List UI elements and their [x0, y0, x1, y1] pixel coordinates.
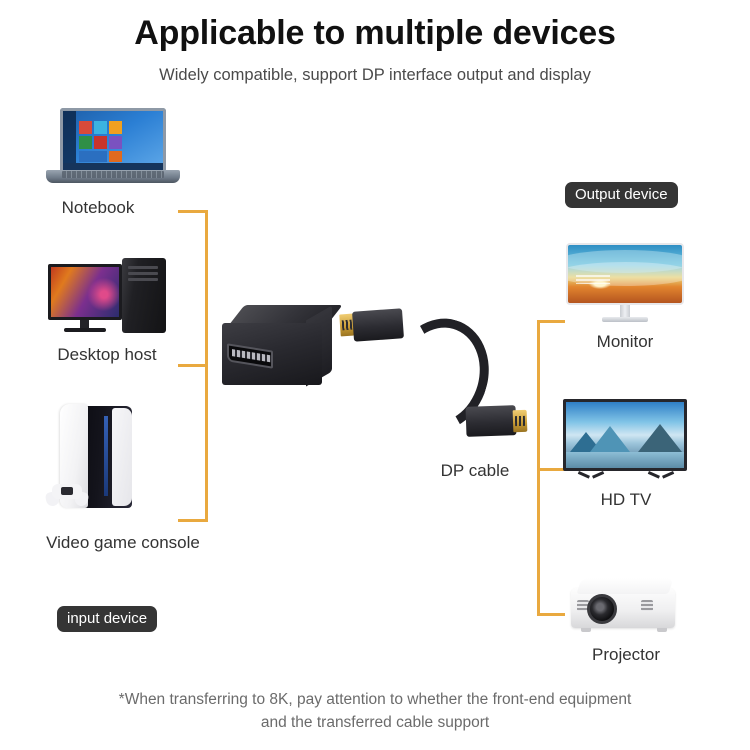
footer-note: *When transferring to 8K, pay attention …	[45, 688, 705, 734]
status-badge-input-device: input device	[57, 606, 157, 632]
game-console-icon	[38, 406, 148, 510]
page-title: Applicable to multiple devices	[0, 14, 750, 53]
projector-icon	[565, 572, 683, 636]
curved-monitor-icon	[566, 243, 684, 323]
page-subtitle: Widely compatible, support DP interface …	[0, 66, 750, 85]
status-badge-output-device: Output device	[565, 182, 678, 208]
caption-projector: Projector	[556, 645, 696, 665]
footer-note-line-1: *When transferring to 8K, pay attention …	[119, 691, 632, 708]
caption-notebook: Notebook	[16, 198, 180, 218]
caption-desktop-host: Desktop host	[14, 345, 200, 365]
dp-adapter-icon	[222, 305, 342, 415]
desktop-computer-icon	[48, 258, 166, 334]
television-icon	[563, 399, 687, 481]
footer-note-line-2: and the transferred cable support	[261, 714, 489, 731]
caption-hd-tv: HD TV	[561, 490, 691, 510]
caption-monitor: Monitor	[560, 332, 690, 352]
product-infographic: Applicable to multiple devices Widely co…	[0, 0, 750, 750]
caption-video-game-console: Video game console	[8, 533, 238, 553]
caption-dp-cable: DP cable	[395, 461, 555, 481]
laptop-icon	[46, 108, 180, 186]
